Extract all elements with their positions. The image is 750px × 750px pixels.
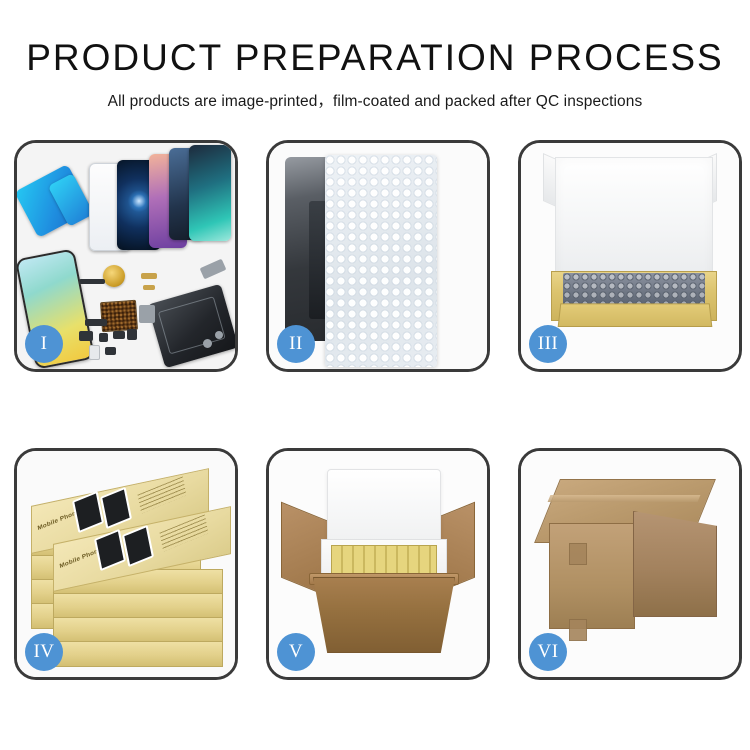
- stacked-box: [53, 617, 223, 643]
- process-step-panel-4[interactable]: Mobile Phone Spare Parts Mobile Phone Sp…: [14, 448, 238, 680]
- small-part: [85, 319, 107, 326]
- grey-bubble-wrap-contents: [563, 273, 705, 305]
- small-part: [79, 331, 93, 341]
- step-badge-4: IV: [25, 633, 63, 671]
- small-part: [141, 273, 157, 279]
- small-part: [127, 329, 137, 340]
- process-step-panel-3[interactable]: III: [518, 140, 742, 372]
- step-badge-5: V: [277, 633, 315, 671]
- stacked-box: [53, 641, 223, 667]
- kraft-box-front-panel: [558, 303, 713, 327]
- stacked-box: [53, 593, 223, 619]
- carton-body: [313, 577, 455, 653]
- page-subtitle: All products are image-printed，film-coat…: [0, 89, 750, 111]
- step-badge-2: II: [277, 325, 315, 363]
- small-part: [105, 347, 116, 355]
- carton-front-face: [549, 523, 635, 629]
- process-step-panel-5[interactable]: V: [266, 448, 490, 680]
- foam-box-lid: [327, 469, 441, 543]
- step-badge-3: III: [529, 325, 567, 363]
- carton-tape-mark: [569, 543, 587, 565]
- small-part: [113, 331, 125, 339]
- bubble-wrap-bag: [325, 155, 437, 367]
- page-header: PRODUCT PREPARATION PROCESS All products…: [0, 0, 750, 111]
- process-step-panel-2[interactable]: II: [266, 140, 490, 372]
- speaker-coil-part: [103, 265, 125, 287]
- white-foam-lid: [555, 157, 713, 287]
- process-steps-grid: I II III: [14, 140, 738, 680]
- carton-tape-mark: [569, 619, 587, 641]
- small-part: [203, 339, 212, 348]
- small-part: [215, 331, 223, 339]
- teal-display-panel: [189, 145, 231, 241]
- process-step-panel-1[interactable]: I: [14, 140, 238, 372]
- page-title: PRODUCT PREPARATION PROCESS: [0, 36, 750, 80]
- small-part: [139, 305, 155, 323]
- step-badge-1: I: [25, 325, 63, 363]
- logic-board-part: [100, 300, 138, 332]
- small-part: [99, 333, 108, 342]
- carton-side-face: [633, 511, 717, 617]
- carton-top-seam: [548, 495, 701, 502]
- small-part: [89, 345, 100, 360]
- small-part: [79, 279, 105, 284]
- process-step-panel-6[interactable]: VI: [518, 448, 742, 680]
- step-badge-6: VI: [529, 633, 567, 671]
- small-part: [143, 285, 155, 290]
